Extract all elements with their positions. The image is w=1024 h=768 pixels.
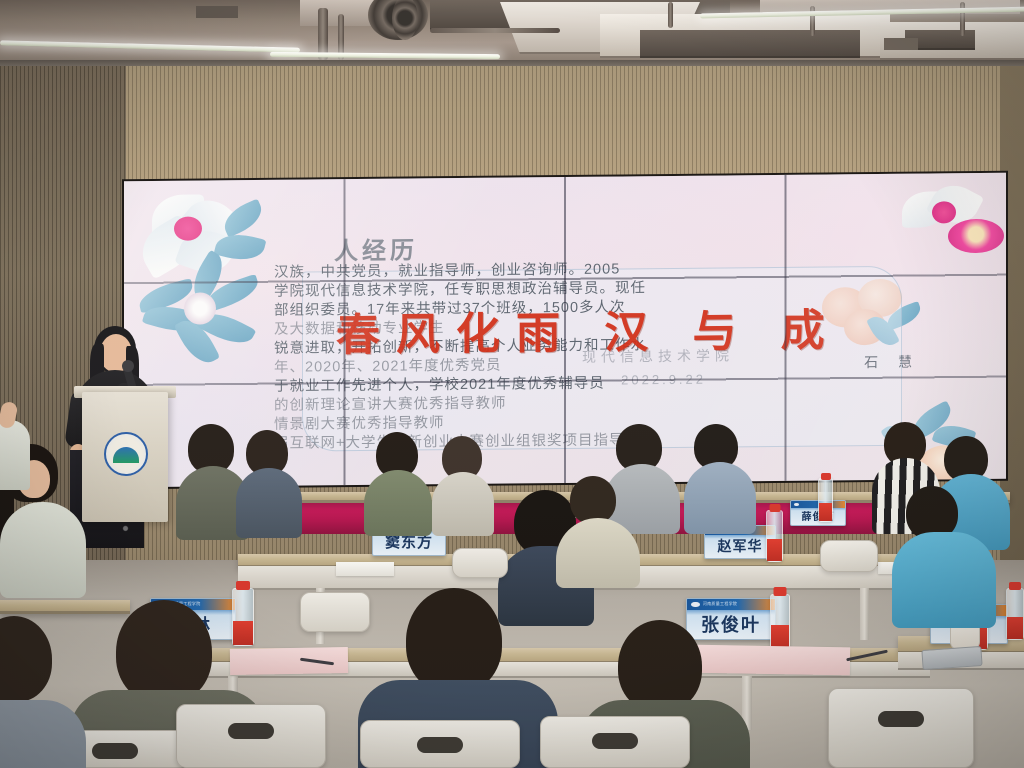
red-calligraphy-overlay: 春风化雨 汉 与 成 (336, 293, 956, 363)
photo-scene: 人经历 汉族，中共党员，就业指导师，创业咨询师。2005 学院现代信息技术学院，… (0, 0, 1024, 768)
smartphone (921, 646, 982, 670)
name-card-name: 张俊叶 (687, 611, 775, 637)
water-bottle (818, 478, 833, 522)
chair (452, 548, 508, 578)
ceiling-duct (640, 30, 860, 58)
water-bottle (1006, 588, 1024, 640)
handout-document (336, 562, 394, 576)
water-bottle (232, 588, 254, 646)
name-card-name: 赵军华 (705, 536, 775, 556)
chair (360, 720, 520, 768)
school-crest-icon (104, 432, 148, 476)
water-bottle (770, 594, 790, 650)
slide-date: 2022.9.22 (621, 372, 706, 388)
chair (300, 592, 370, 632)
name-card: 河南质量工程学院 张俊叶 (686, 598, 776, 640)
chair (176, 704, 326, 768)
chair (820, 540, 878, 572)
name-card-org: 河南质量工程学院 (703, 601, 737, 607)
chair (540, 716, 690, 768)
chair (828, 688, 974, 768)
slide-heading: 人经历 (334, 230, 418, 266)
water-bottle (766, 510, 783, 562)
side-table-left (0, 600, 130, 614)
handout-document (690, 645, 850, 676)
blue-lotus-flower-icon (138, 258, 278, 379)
pink-peony-flower-icon (894, 181, 1006, 262)
